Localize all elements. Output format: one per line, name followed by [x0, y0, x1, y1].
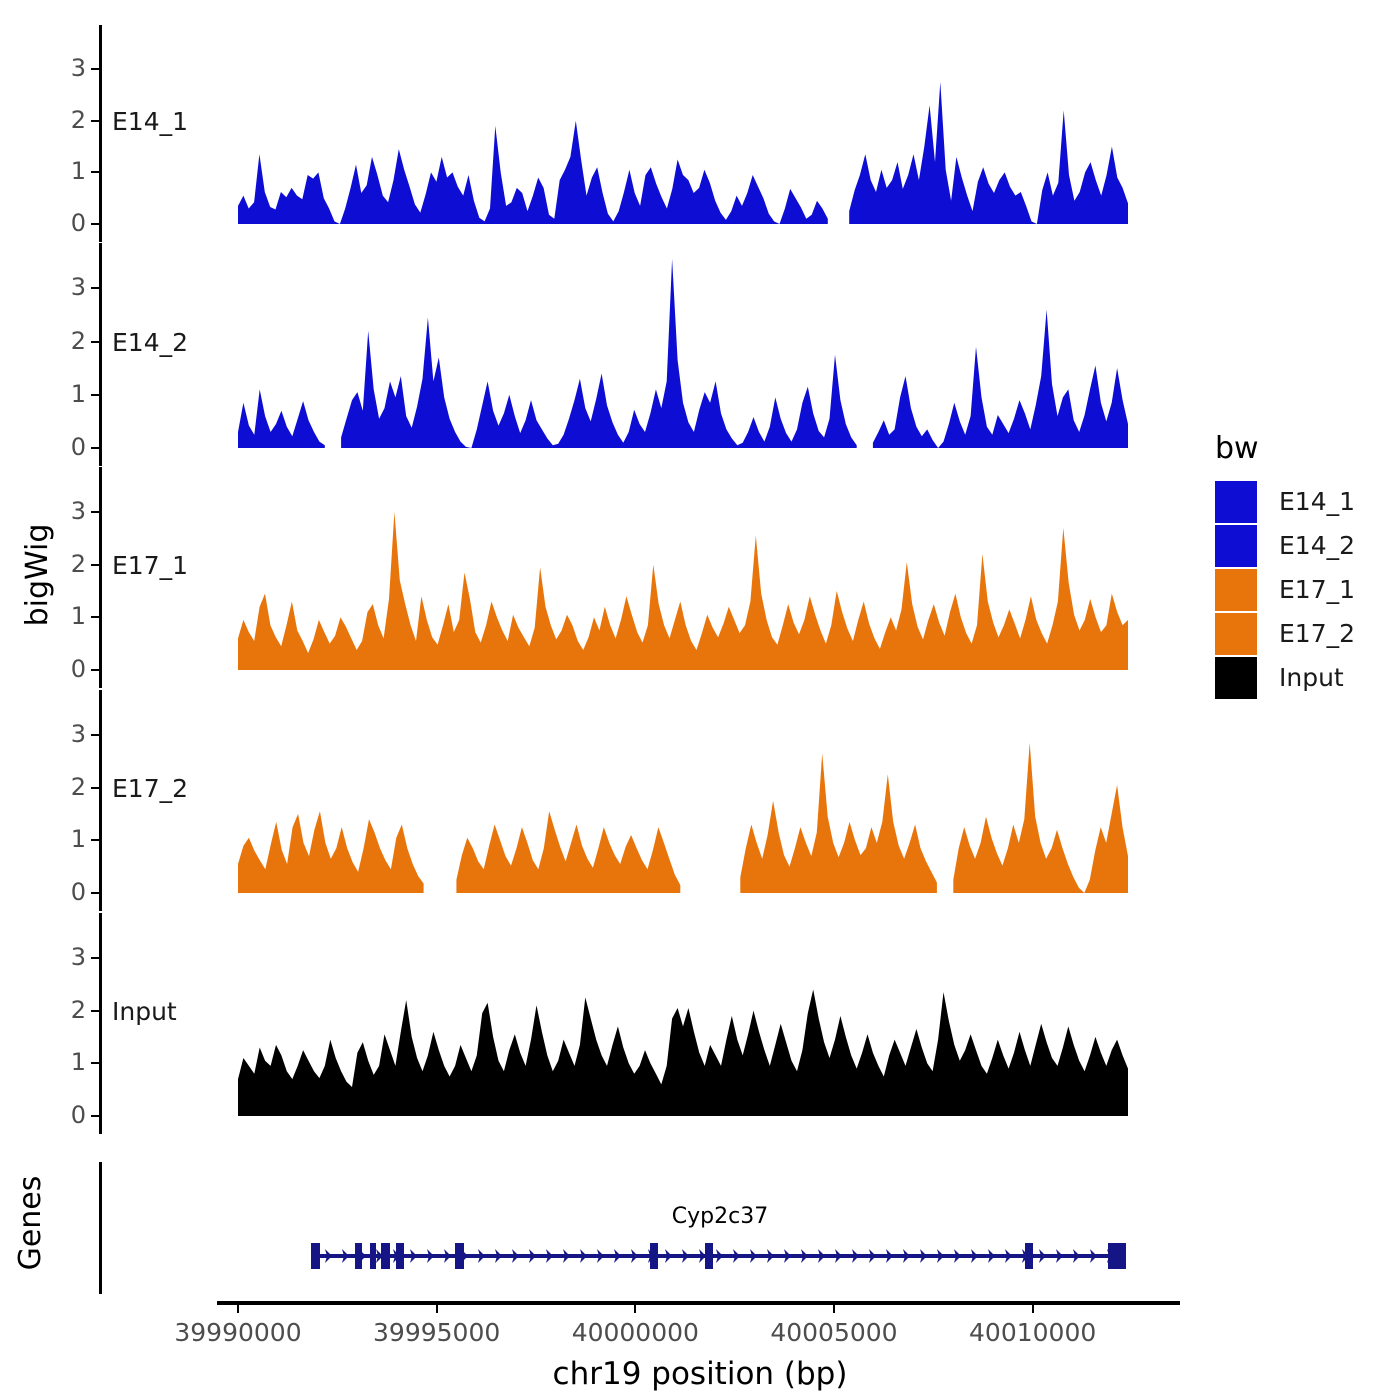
legend-item-e14_2[interactable]: E14_2 [1215, 524, 1390, 568]
legend-swatch-e14_1 [1215, 481, 1257, 523]
genes-panel-axis-line [99, 1162, 102, 1294]
x-tick-label: 39995000 [327, 1318, 547, 1348]
legend-label: E17_1 [1279, 577, 1355, 603]
legend-item-e17_2[interactable]: E17_2 [1215, 612, 1390, 656]
legend-swatch-input [1215, 657, 1257, 699]
legend-item-e14_1[interactable]: E14_1 [1215, 480, 1390, 524]
x-tick-label: 40000000 [525, 1318, 745, 1348]
x-tick-label: 40005000 [724, 1318, 944, 1348]
x-tick-label: 39990000 [128, 1318, 348, 1348]
x-tick-mark [237, 1305, 239, 1313]
x-axis-title: chr19 position (bp) [200, 1356, 1200, 1392]
legend-swatch-e17_2 [1215, 613, 1257, 655]
x-tick-mark [1032, 1305, 1034, 1313]
legend-title: bw [1215, 432, 1390, 466]
x-axis-line [217, 1301, 1180, 1305]
legend-label: E17_2 [1279, 621, 1355, 647]
gene-model-glyph [0, 1152, 1400, 1302]
legend-swatch-e17_1 [1215, 569, 1257, 611]
genome-browser-figure: bigWig Genes 0123E14_10123E14_20123E17_1… [0, 0, 1400, 1400]
x-tick-label: 40010000 [923, 1318, 1143, 1348]
legend-label: E14_1 [1279, 489, 1355, 515]
x-tick-mark [436, 1305, 438, 1313]
legend-items: E14_1E14_2E17_1E17_2Input [1215, 480, 1390, 700]
legend-item-input[interactable]: Input [1215, 656, 1390, 700]
legend-item-e17_1[interactable]: E17_1 [1215, 568, 1390, 612]
legend-swatch-e14_2 [1215, 525, 1257, 567]
track-area-input [0, 0, 1400, 1138]
x-tick-mark [833, 1305, 835, 1313]
x-tick-mark [634, 1305, 636, 1313]
legend-label: Input [1279, 665, 1344, 691]
legend: bw E14_1E14_2E17_1E17_2Input [1215, 432, 1390, 700]
legend-label: E14_2 [1279, 533, 1355, 559]
